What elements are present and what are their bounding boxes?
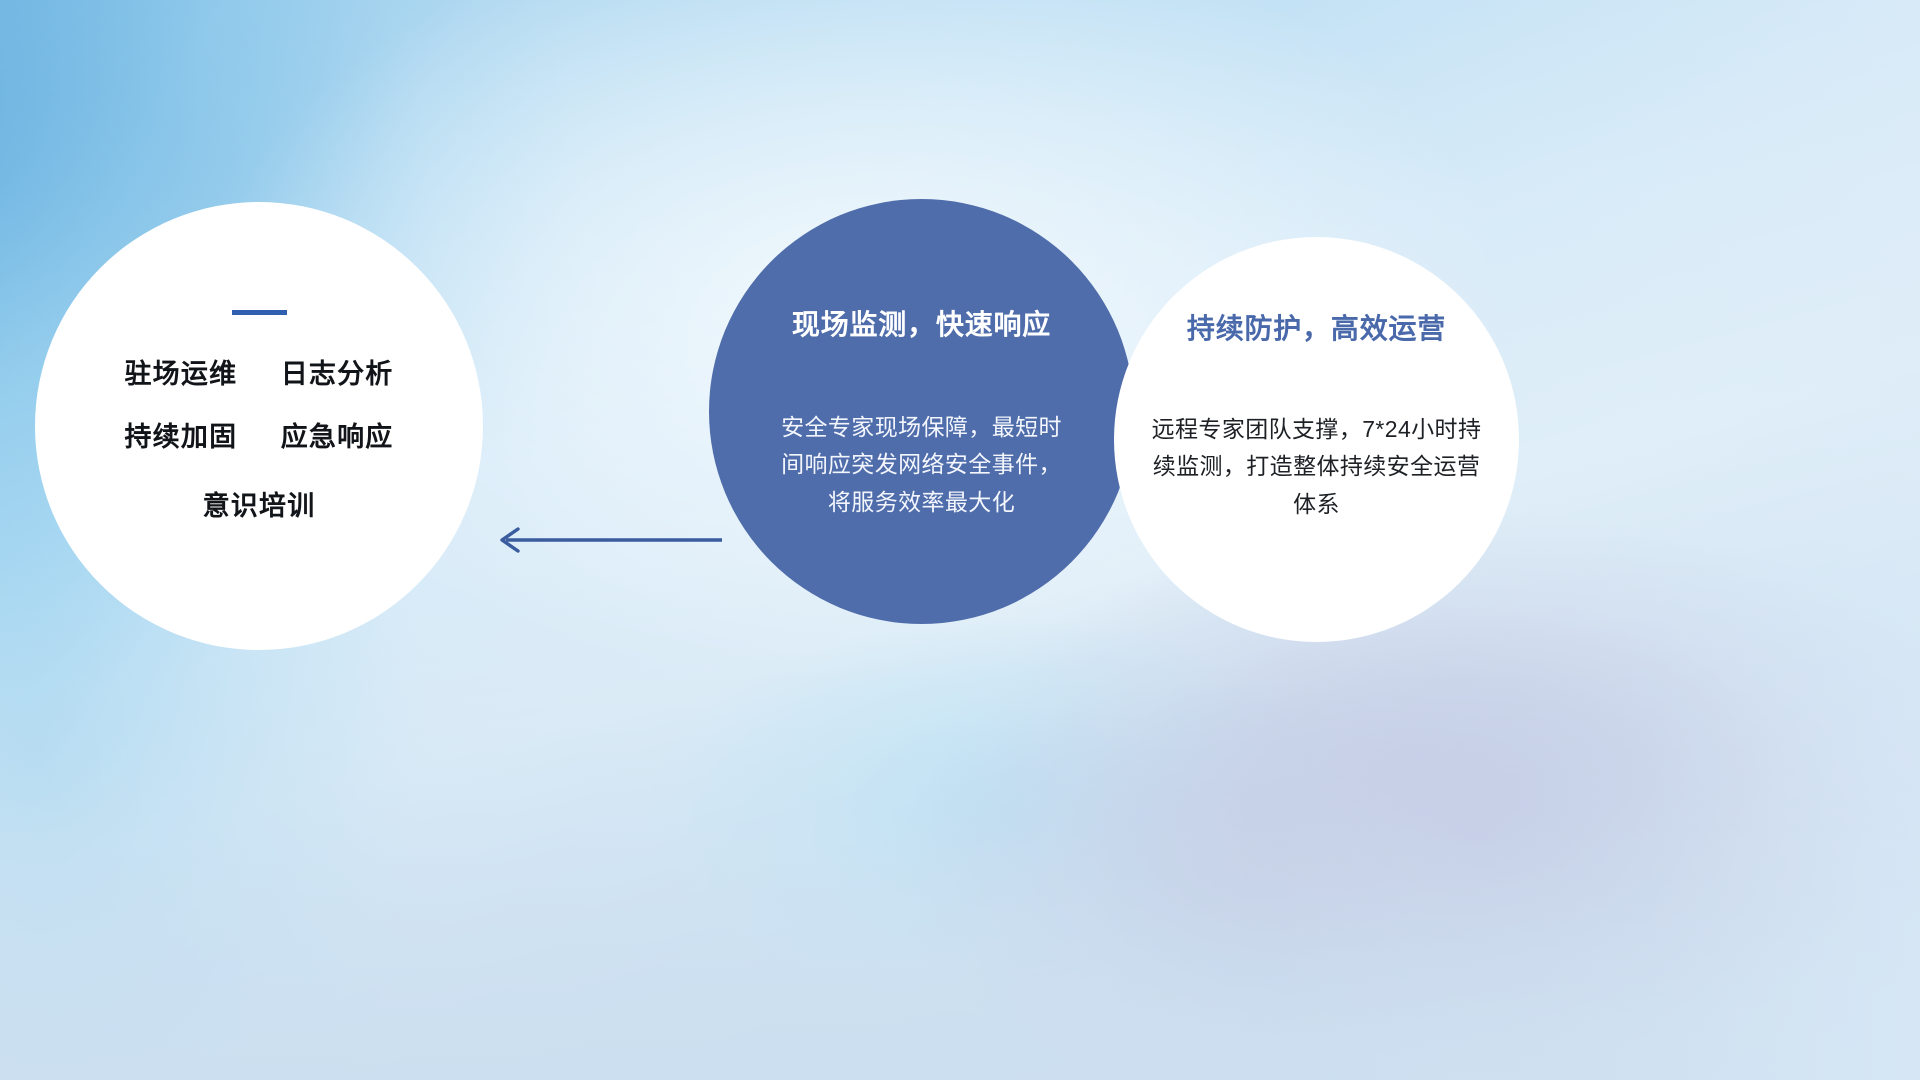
capabilities-content: 驻场运维 日志分析 持续加固 应急响应 意识培训 (35, 202, 483, 650)
arrow-left-icon (484, 522, 724, 558)
capability-label-emergency-response: 应急响应 (281, 422, 394, 452)
horizontal-dash-icon (232, 310, 287, 315)
continuous-protection-content: 持续防护，高效运营 远程专家团队支撑，7*24小时持续监测，打造整体持续安全运营… (1114, 237, 1519, 642)
capability-label-onsite-ops: 驻场运维 (124, 359, 237, 389)
capability-label-awareness-training: 意识培训 (203, 491, 316, 521)
capability-row-1: 驻场运维 日志分析 (124, 361, 393, 388)
capability-row-2: 持续加固 应急响应 (124, 424, 393, 451)
continuous-protection-title: 持续防护，高效运营 (1187, 307, 1446, 347)
capability-label-log-analysis: 日志分析 (281, 359, 394, 389)
slide-canvas: 驻场运维 日志分析 持续加固 应急响应 意识培训 现场监测，快速响应 安全专家现… (0, 0, 1920, 1080)
capability-label-hardening: 持续加固 (124, 422, 237, 452)
onsite-monitoring-content: 现场监测，快速响应 安全专家现场保障，最短时间响应突发网络安全事件，将服务效率最… (709, 199, 1134, 624)
onsite-monitoring-body: 安全专家现场保障，最短时间响应突发网络安全事件，将服务效率最大化 (772, 409, 1072, 521)
capability-row-3: 意识培训 (203, 493, 316, 520)
onsite-monitoring-title: 现场监测，快速响应 (792, 303, 1051, 343)
continuous-protection-body: 远程专家团队支撑，7*24小时持续监测，打造整体持续安全运营体系 (1142, 411, 1492, 523)
